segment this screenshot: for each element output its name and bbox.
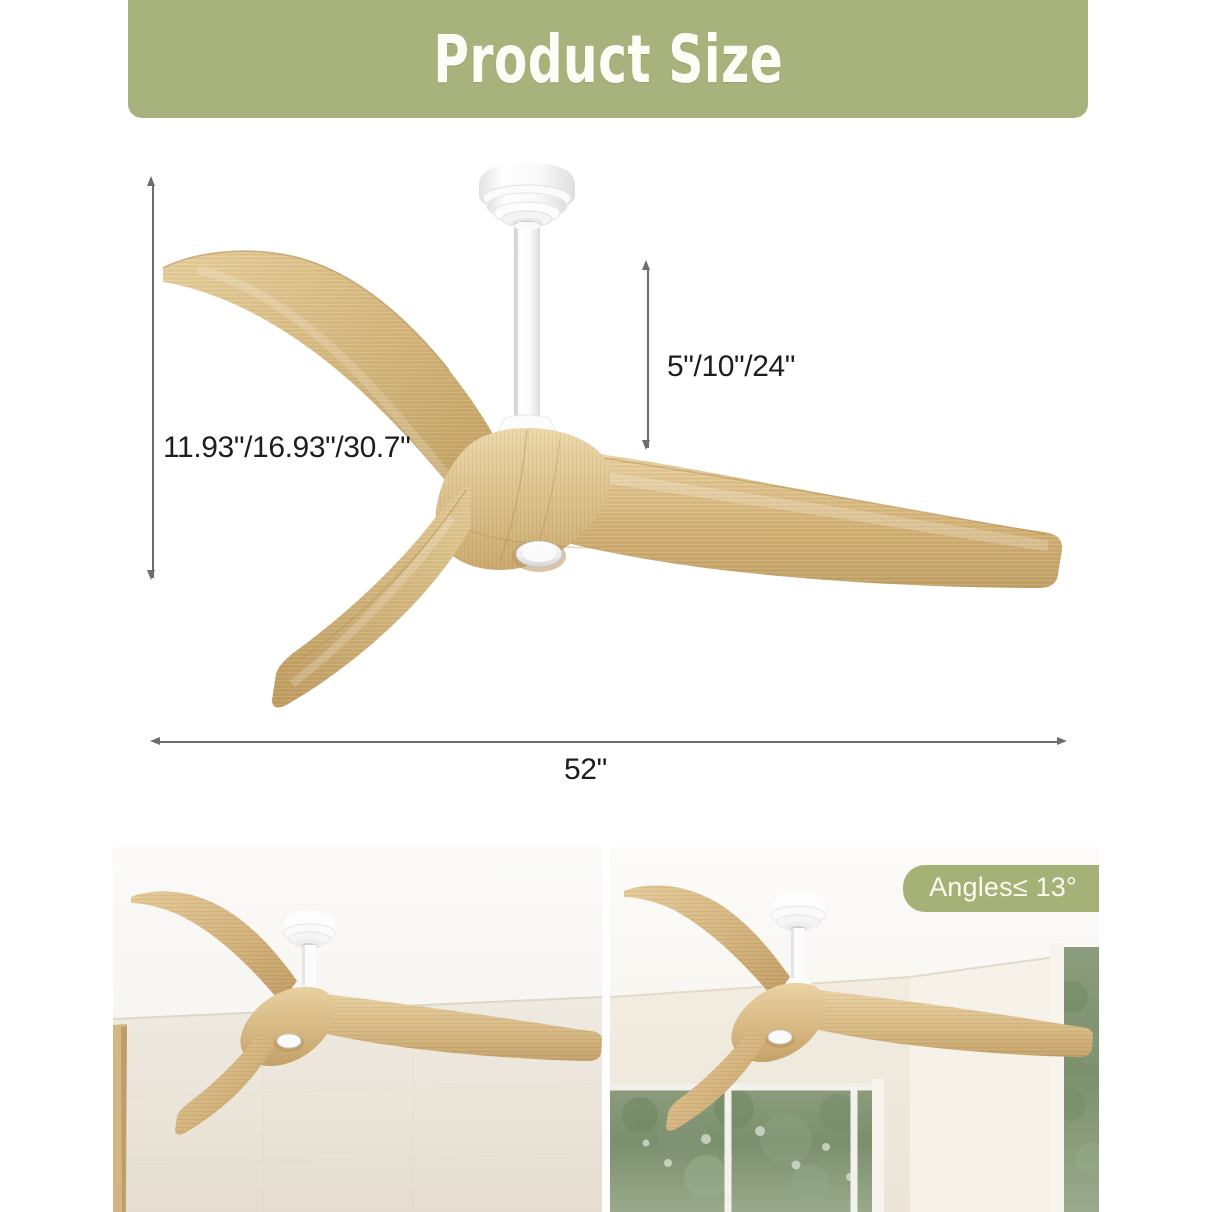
led-light-icon — [512, 540, 566, 572]
width-dimension-line — [160, 741, 1057, 743]
header-banner: Product Size — [128, 0, 1088, 118]
width-arrow-left — [150, 737, 160, 745]
downrod-dimension-line — [647, 268, 649, 448]
height-dimension-line — [152, 184, 154, 578]
size-diagram: 11.93"/16.93"/30.7" 5"/10"/24" 52" — [0, 118, 1212, 830]
fan-blade-lower-left — [272, 486, 470, 707]
downrod-dimension-label: 5"/10"/24" — [667, 350, 795, 384]
downrod-arrow-bottom — [642, 440, 650, 450]
ceiling-canopy-icon — [479, 163, 575, 228]
height-dimension-label: 11.93"/16.93"/30.7" — [163, 431, 410, 465]
photo-left-scene — [113, 847, 602, 1212]
angles-badge: Angles≤ 13° — [903, 865, 1099, 912]
width-arrow-right — [1057, 737, 1067, 745]
width-dimension-label: 52" — [564, 753, 607, 787]
ceiling-fan-illustration — [0, 118, 1212, 830]
page-title: Product Size — [433, 21, 783, 98]
height-arrow-bottom — [147, 570, 155, 580]
height-arrow-top — [147, 176, 155, 186]
photo-gallery: Angles≤ 13° — [0, 847, 1212, 1212]
photo-left-room[interactable] — [113, 847, 602, 1212]
product-size-infographic: Product Size — [0, 0, 1212, 1212]
photo-right-room[interactable]: Angles≤ 13° — [610, 847, 1099, 1212]
downrod-arrow-top — [642, 260, 650, 270]
downrod-icon — [514, 222, 540, 428]
